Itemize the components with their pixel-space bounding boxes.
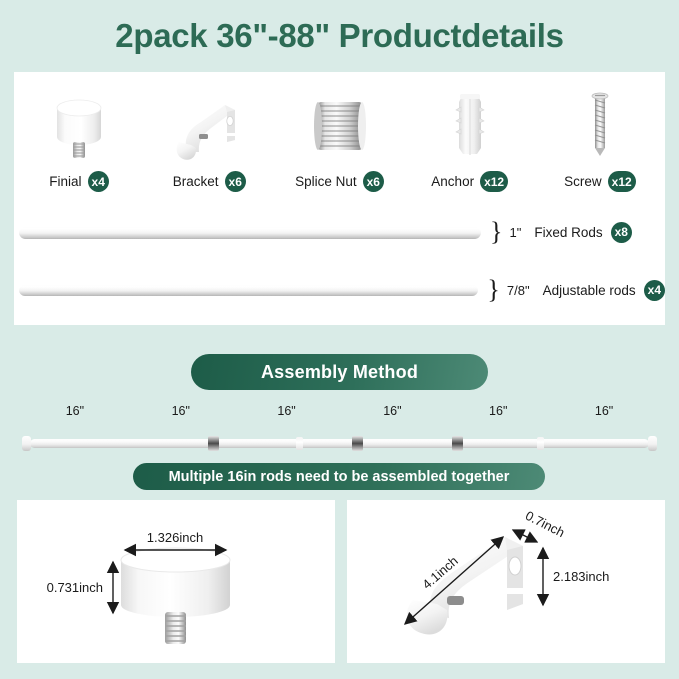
rod-end-cap-left xyxy=(22,436,31,451)
part-qty-badge-bracket: x6 xyxy=(225,171,246,192)
part-item-bracket: Bracket x6 xyxy=(144,80,274,192)
part-name-anchor: Anchor xyxy=(431,174,474,189)
rod-qty-badge-adjustable: x4 xyxy=(644,280,665,301)
part-label-splice-nut: Splice Nut x6 xyxy=(295,171,384,192)
segment-labels: 16" 16" 16" 16" 16" 16" xyxy=(22,404,657,426)
assembled-rod-shaft xyxy=(30,439,649,448)
bracket-dimension-card: 4.1inch 0.7inch 2.183inch xyxy=(347,500,665,663)
splice-nut-joint xyxy=(208,436,219,451)
fixed-rod-icon xyxy=(19,226,481,239)
part-qty-badge-splice-nut: x6 xyxy=(363,171,384,192)
part-name-splice-nut: Splice Nut xyxy=(295,174,357,189)
rod-joint xyxy=(537,437,544,450)
parts-row: Finial x4 xyxy=(14,80,665,192)
segment-label: 16" xyxy=(551,404,657,426)
page-title: 2pack 36"-88" Productdetails xyxy=(0,0,679,72)
segment-label: 16" xyxy=(445,404,551,426)
rod-joint xyxy=(296,437,303,450)
part-label-bracket: Bracket x6 xyxy=(173,171,246,192)
part-label-screw: Screw x12 xyxy=(564,171,636,192)
rod-badge-wrap-fixed: x8 xyxy=(611,222,632,243)
screw-icon xyxy=(580,90,620,162)
splice-nut-joint xyxy=(352,436,363,451)
bracket-icon xyxy=(161,90,257,162)
rod-end-cap-right xyxy=(648,436,657,451)
adjustable-rod-icon xyxy=(19,284,478,296)
rod-size-fixed: 1" xyxy=(509,225,521,240)
anchor-icon xyxy=(443,90,497,162)
segment-label: 16" xyxy=(128,404,234,426)
part-name-screw: Screw xyxy=(564,174,602,189)
part-label-finial: Finial x4 xyxy=(49,171,109,192)
assembled-rod-icon xyxy=(22,435,657,451)
part-qty-badge-finial: x4 xyxy=(88,171,109,192)
rod-brace-fixed: } xyxy=(490,220,502,243)
part-item-splice-nut: Splice Nut x6 xyxy=(274,80,404,192)
assembly-method-heading: Assembly Method xyxy=(191,354,488,390)
rod-badge-wrap-adjustable: x4 xyxy=(644,280,665,301)
finial-width-dimension: 1.326inch xyxy=(125,530,226,550)
bracket-depth-label: 0.7inch xyxy=(523,508,567,540)
bracket-height-dimension: 2.183inch xyxy=(543,548,609,605)
rod-name-fixed: Fixed Rods xyxy=(534,225,602,240)
bracket-height-label: 2.183inch xyxy=(553,569,609,584)
segment-label: 16" xyxy=(22,404,128,426)
rod-qty-badge-fixed: x8 xyxy=(611,222,632,243)
page-title-text: 2pack 36"-88" Productdetails xyxy=(115,17,563,55)
rod-name-adjustable: Adjustable rods xyxy=(543,283,636,298)
rod-brace-adjustable: } xyxy=(487,278,499,301)
segment-label: 16" xyxy=(234,404,340,426)
parts-list-card: Finial x4 xyxy=(14,72,665,325)
finial-icon xyxy=(36,90,122,162)
splice-nut-joint xyxy=(452,436,463,451)
finial-height-label: 0.731inch xyxy=(47,580,103,595)
assembly-method-heading-text: Assembly Method xyxy=(261,362,418,383)
segment-label: 16" xyxy=(339,404,445,426)
part-name-finial: Finial xyxy=(49,174,81,189)
part-item-finial: Finial x4 xyxy=(14,80,144,192)
rod-row-adjustable: } 7/8" Adjustable rods x4 xyxy=(14,270,665,310)
assembly-caption-text: Multiple 16in rods need to be assembled … xyxy=(169,469,510,485)
part-item-screw: Screw x12 xyxy=(535,80,665,192)
finial-width-label: 1.326inch xyxy=(147,530,203,545)
part-qty-badge-anchor: x12 xyxy=(480,171,508,192)
part-item-anchor: Anchor x12 xyxy=(405,80,535,192)
finial-dimension-card: 1.326inch 0.731inch xyxy=(17,500,335,663)
finial-icon xyxy=(121,548,230,644)
product-details-infographic: 2pack 36"-88" Productdetails xyxy=(0,0,679,679)
part-label-anchor: Anchor x12 xyxy=(431,171,508,192)
part-qty-badge-screw: x12 xyxy=(608,171,636,192)
bracket-length-dimension: 4.1inch xyxy=(405,537,503,624)
finial-height-dimension: 0.731inch xyxy=(47,562,113,613)
splice-nut-icon xyxy=(300,90,380,162)
part-name-bracket: Bracket xyxy=(173,174,219,189)
rod-size-adjustable: 7/8" xyxy=(507,283,530,298)
rod-row-fixed: } 1" Fixed Rods x8 xyxy=(14,212,665,252)
assembly-caption: Multiple 16in rods need to be assembled … xyxy=(133,463,545,490)
bracket-depth-dimension: 0.7inch xyxy=(513,508,567,542)
